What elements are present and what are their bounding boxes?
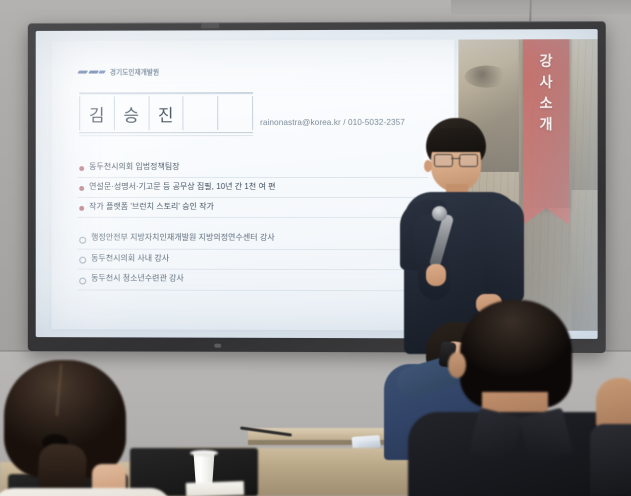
name-rule-bottom-thin xyxy=(79,135,253,136)
presenter-fringe xyxy=(427,128,485,152)
list-item: 동두천시의회 사내 강사 xyxy=(77,249,428,270)
presenter-arm-right xyxy=(484,200,524,304)
paper-cup xyxy=(192,452,216,486)
name-cell: 승 xyxy=(115,96,150,130)
audience-member-edge xyxy=(596,378,631,496)
hollow-bullet-icon xyxy=(79,236,86,243)
audience-ear xyxy=(448,352,466,378)
hollow-bullet-icon xyxy=(79,257,86,264)
lecture-room-scene: 경기도인재개발원 김 승 진 xyxy=(0,0,631,496)
audience-torso xyxy=(590,424,631,496)
name-block: 김 승 진 xyxy=(79,92,253,136)
list-item: 연설문·성명서·기고문 등 공무상 집필, 10년 간 1천 여 편 xyxy=(77,178,428,198)
section-ribbon-label: 강사소개 xyxy=(536,53,556,137)
list-item-label: 작가 플랫폼 '브런치 스토리' 승인 작가 xyxy=(89,202,214,212)
list-item: 동두천시 청소년수련관 강사 xyxy=(77,270,428,291)
paper-sheet xyxy=(186,481,244,496)
filled-bullet-icon xyxy=(79,186,84,191)
institute-logo-label: 경기도인재개발원 xyxy=(110,66,159,76)
list-item-label: 동두천시의회 입법정책팀장 xyxy=(89,162,179,172)
audience-shoulders xyxy=(0,488,172,496)
list-item-label: 동두천시 청소년수련관 강사 xyxy=(91,274,184,284)
list-item: 작가 플랫폼 '브런치 스토리' 승인 작가 xyxy=(77,198,428,218)
list-item-label: 연설문·성명서·기고문 등 공무상 집필, 10년 간 1천 여 편 xyxy=(89,182,275,192)
name-rule-top-thin xyxy=(79,93,253,94)
name-cell: 김 xyxy=(80,96,114,130)
name-cell xyxy=(184,96,219,130)
gg-logo-mark-icon xyxy=(78,70,105,73)
audience-member-ponytail xyxy=(0,360,162,496)
presenter-hand-left xyxy=(426,264,446,286)
glasses-icon xyxy=(434,154,478,165)
display-sensor-icon xyxy=(201,23,219,28)
name-rule-bottom xyxy=(79,132,253,133)
section-ribbon: 강사소개 xyxy=(523,39,569,208)
credentials-list: 동두천시의회 입법정책팀장 연설문·성명서·기고문 등 공무상 집필, 10년 … xyxy=(77,158,428,291)
hollow-bullet-icon xyxy=(79,277,86,284)
institute-logo: 경기도인재개발원 xyxy=(78,66,159,76)
paper-cup-rim xyxy=(190,450,218,456)
ceiling-edge xyxy=(451,0,631,14)
slide-content-card: 경기도인재개발원 김 승 진 xyxy=(52,40,455,331)
list-item: 동두천시의회 입법정책팀장 xyxy=(77,158,428,178)
name-cell xyxy=(218,96,253,130)
name-grid: 김 승 진 xyxy=(79,96,253,130)
list-item-label: 행정안전부 지방자치인재개발원 지방의정연수센터 강사 xyxy=(91,233,275,243)
display-indicator-icon xyxy=(214,344,221,348)
list-separator xyxy=(77,218,428,229)
collage-photo xyxy=(571,39,597,190)
list-item-label: 동두천시의회 사내 강사 xyxy=(91,253,169,263)
list-item: 행정안전부 지방자치인재개발원 지방의정연수센터 강사 xyxy=(77,229,428,250)
filled-bullet-icon xyxy=(79,166,84,171)
contact-line: rainonastra@korea.kr / 010-5032-2357 xyxy=(260,118,405,127)
name-cell: 진 xyxy=(149,96,184,130)
filled-bullet-icon xyxy=(79,205,84,210)
presenter-ear xyxy=(424,160,432,172)
